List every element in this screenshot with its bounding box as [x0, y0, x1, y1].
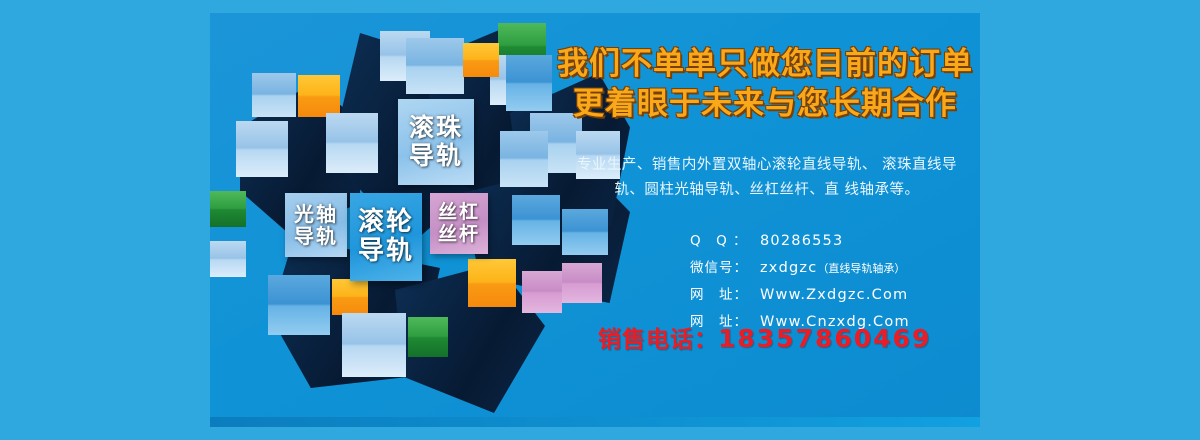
cube-face	[332, 279, 368, 315]
tile-ball-rail-line2: 导轨	[409, 142, 463, 170]
contact-row-qq: Q Q ： 80286553	[690, 229, 980, 249]
cube-face	[326, 113, 378, 173]
headline-line-1: 我们不单单只做您目前的订单	[557, 46, 973, 82]
sales-phone[interactable]: 销售电话：18357860469	[598, 320, 978, 354]
cube-face	[468, 259, 516, 307]
banner-content: 我们不单单只做您目前的订单 更着眼于未来与您长期合作 专业生产、销售内外置双轴心…	[550, 13, 980, 417]
panel-bottom-strip	[210, 417, 980, 427]
tile-optical-shaft[interactable]: 光轴 导轨	[285, 193, 347, 257]
qq-value[interactable]: 80286553	[760, 233, 843, 249]
cube-face	[210, 241, 246, 277]
promo-banner: 滚珠 导轨 光轴 导轨 滚轮 导轨 丝杠 丝杆 我们不单单只做您目前的订单 更着…	[0, 0, 1200, 440]
cube-face	[406, 38, 464, 94]
description-line-1: 专业生产、销售内外置双轴心滚轮直线导轨、	[577, 157, 877, 173]
tile-screw-rod[interactable]: 丝杠 丝杆	[430, 193, 488, 254]
cube-face	[506, 55, 552, 111]
qq-label: Q Q ：	[690, 229, 760, 249]
website-1-label: 网 址：	[690, 283, 760, 303]
sales-phone-label: 销售电话：	[598, 327, 718, 353]
contact-row-wechat: 微信号： zxdgzc （直线导轨轴承）	[690, 256, 980, 276]
tile-roller-rail-line1: 滚轮	[358, 208, 414, 237]
tile-roller-rail[interactable]: 滚轮 导轨	[350, 193, 422, 281]
cube-face	[408, 317, 448, 357]
description: 专业生产、销售内外置双轴心滚轮直线导轨、 滚珠直线导轨、圆柱光轴导轨、丝杠丝杆、…	[574, 153, 960, 203]
cube-face	[342, 313, 406, 377]
wechat-label: 微信号：	[690, 256, 760, 276]
cube-face	[210, 191, 246, 227]
contact-row-website-1: 网 址： Www.Zxdgzc.Com	[690, 283, 980, 303]
cube-face	[463, 43, 499, 77]
cube-face	[252, 73, 296, 117]
description-line-3: 线轴承等。	[845, 182, 920, 198]
wechat-value[interactable]: zxdgzc	[760, 260, 817, 276]
wechat-note: （直线导轨轴承）	[817, 260, 905, 276]
cube-face	[268, 275, 330, 335]
tile-optical-shaft-line2: 导轨	[294, 225, 338, 247]
tile-ball-rail[interactable]: 滚珠 导轨	[398, 99, 474, 185]
cube-face	[500, 131, 548, 187]
sales-phone-number[interactable]: 18357860469	[718, 324, 931, 353]
cube-face	[298, 75, 340, 117]
tile-roller-rail-line2: 导轨	[358, 237, 414, 266]
tile-ball-rail-line1: 滚珠	[409, 114, 463, 142]
tile-screw-rod-line2: 丝杆	[438, 224, 480, 245]
headline: 我们不单单只做您目前的订单 更着眼于未来与您长期合作	[550, 45, 980, 124]
banner-panel: 滚珠 导轨 光轴 导轨 滚轮 导轨 丝杠 丝杆 我们不单单只做您目前的订单 更着…	[210, 13, 980, 427]
tile-screw-rod-line1: 丝杠	[438, 202, 480, 223]
website-1-value[interactable]: Www.Zxdgzc.Com	[760, 287, 908, 303]
tile-optical-shaft-line1: 光轴	[294, 203, 338, 225]
cube-face	[236, 121, 288, 177]
headline-line-2: 更着眼于未来与您长期合作	[550, 85, 980, 125]
